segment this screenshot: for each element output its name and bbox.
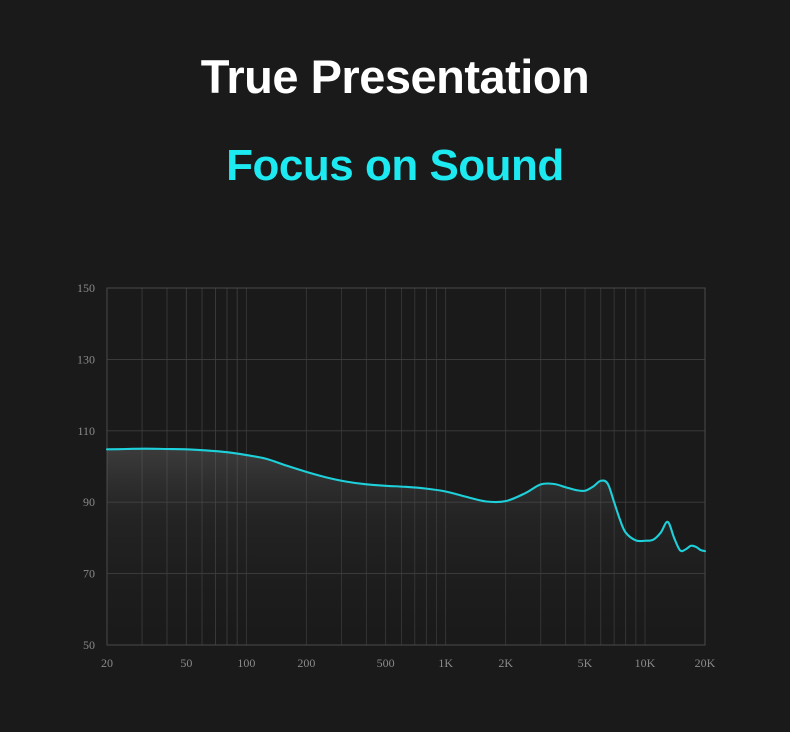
y-tick-label: 110 [77, 424, 95, 438]
x-tick-label: 50 [180, 656, 192, 670]
chart-svg: 507090110130150 20501002005001K2K5K10K20… [0, 262, 790, 682]
frequency-response-chart: 507090110130150 20501002005001K2K5K10K20… [0, 262, 790, 682]
x-tick-label: 2K [498, 656, 513, 670]
x-tick-label: 20K [695, 656, 716, 670]
page-title: True Presentation [0, 52, 790, 101]
y-tick-label: 150 [77, 281, 95, 295]
y-tick-label: 50 [83, 638, 95, 652]
y-tick-label: 70 [83, 567, 95, 581]
x-tick-label: 200 [297, 656, 315, 670]
x-tick-label: 500 [377, 656, 395, 670]
x-tick-label: 20 [101, 656, 113, 670]
x-tick-label: 10K [635, 656, 656, 670]
x-tick-label: 100 [237, 656, 255, 670]
y-tick-label: 90 [83, 495, 95, 509]
page-subtitle: Focus on Sound [0, 101, 790, 189]
chart-area-fill [107, 449, 705, 645]
headings-block: True Presentation Focus on Sound [0, 0, 790, 190]
x-tick-label: 1K [438, 656, 453, 670]
x-axis-ticks: 20501002005001K2K5K10K20K [101, 656, 716, 670]
y-tick-label: 130 [77, 352, 95, 366]
x-tick-label: 5K [578, 656, 593, 670]
y-axis-ticks: 507090110130150 [77, 281, 95, 652]
